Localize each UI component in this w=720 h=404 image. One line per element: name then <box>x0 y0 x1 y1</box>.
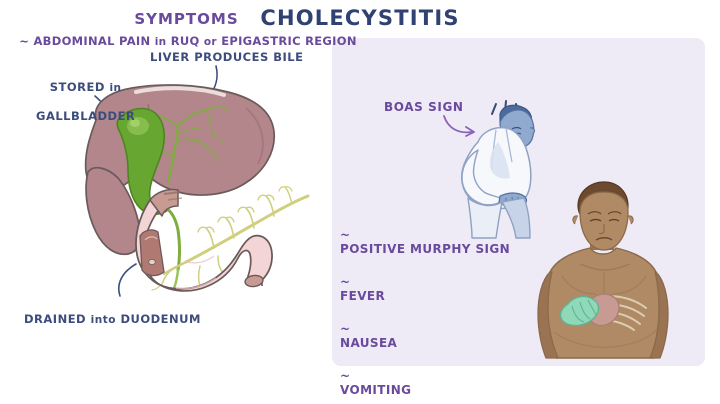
symptom-list: ~ POSITIVE MURPHY SIGN ~ FEVER ~ NAUSEA … <box>340 214 560 404</box>
label-drained-lowercase: into <box>91 314 116 326</box>
bile-duct-tree <box>152 107 228 182</box>
label-drained-prefix: DRAINED <box>24 312 91 326</box>
list-item: ~ POSITIVE MURPHY SIGN <box>340 214 560 256</box>
list-item-bullet: ~ <box>340 322 350 336</box>
symptom-part2: RUQ <box>166 34 203 48</box>
list-item-bullet: ~ <box>340 369 350 383</box>
label-stored-in-gallbladder: STORED in GALLBLADDER <box>36 66 135 123</box>
list-item-label: VOMITING <box>340 383 411 397</box>
list-item: ~ FEVER <box>340 261 560 303</box>
symptom-abdominal-pain: ~ ABDOMINAL PAIN in RUQ or EPIGASTRIC RE… <box>8 34 368 48</box>
list-item-label: FEVER <box>340 289 385 303</box>
duodenum-cutaway-window <box>140 230 164 276</box>
symptom-bullet: ~ <box>19 34 29 48</box>
list-item: ~ VOMITING <box>340 355 560 397</box>
gallbladder-organ <box>117 109 179 289</box>
label-stored-line2: GALLBLADDER <box>36 109 135 123</box>
pancreatic-duct <box>152 187 308 290</box>
label-drained-suffix: DUODENUM <box>116 312 201 326</box>
label-stored-line1: STORED <box>50 80 110 94</box>
list-item-bullet: ~ <box>340 275 350 289</box>
symptoms-heading: SYMPTOMS <box>0 10 373 28</box>
list-item-bullet: ~ <box>340 228 350 242</box>
list-item-label: NAUSEA <box>340 336 397 350</box>
symptom-lowercase-in: in <box>155 36 167 48</box>
label-stored-lowercase: in <box>109 82 121 94</box>
label-drained-into-duodenum: DRAINED into DUODENUM <box>24 298 201 327</box>
symptom-lowercase-or: or <box>204 36 217 48</box>
slide-root: CHOLECYSTITIS <box>0 0 720 404</box>
list-item-label: POSITIVE MURPHY SIGN <box>340 242 510 256</box>
symptom-part1: ABDOMINAL PAIN <box>29 34 155 48</box>
leader-line-liver <box>208 66 217 98</box>
label-liver-produces-bile: LIVER PRODUCES BILE <box>150 50 303 64</box>
label-boas-sign: BOAS SIGN <box>384 100 464 114</box>
symptom-part3: EPIGASTRIC REGION <box>217 34 357 48</box>
leader-line-duodenum <box>119 264 136 296</box>
duodenum-organ <box>136 189 272 290</box>
list-item: ~ NAUSEA <box>340 308 560 350</box>
